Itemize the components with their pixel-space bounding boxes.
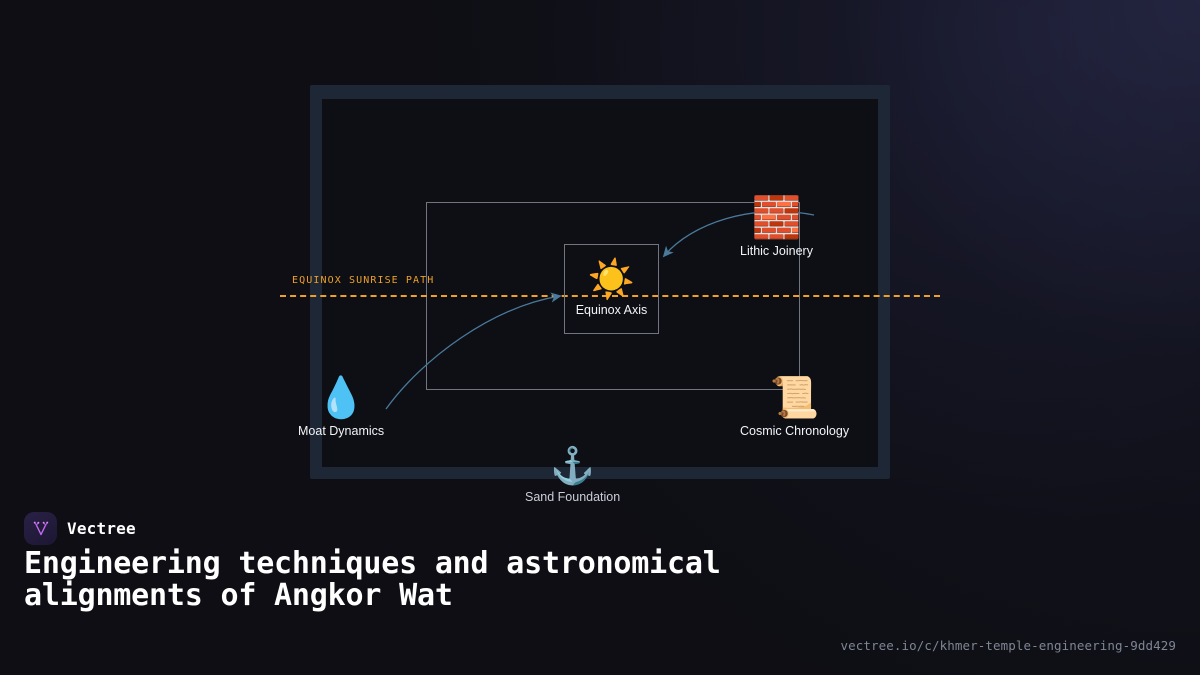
node-label-equinox-axis: Equinox Axis [576,303,648,317]
node-moat-dynamics[interactable]: 💧 Moat Dynamics [298,378,384,438]
anchor-icon: ⚓ [550,448,595,484]
node-cosmic-chronology[interactable]: 📜 Cosmic Chronology [740,378,849,438]
brick-wall-icon: 🧱 [752,198,802,238]
vectree-mark-icon [31,519,51,539]
brand[interactable]: Vectree [24,512,136,545]
node-label-sand-foundation: Sand Foundation [525,490,620,504]
node-equinox-axis[interactable]: ☀️ Equinox Axis [564,244,659,334]
node-label-lithic-joinery: Lithic Joinery [740,244,813,258]
sun-icon: ☀️ [588,261,635,299]
node-label-cosmic-chronology: Cosmic Chronology [740,424,849,438]
brand-name: Vectree [67,519,136,538]
page-title: Engineering techniques and astronomical … [24,548,784,613]
vectree-logo-icon [24,512,57,545]
equinox-sunrise-path-label: EQUINOX SUNRISE PATH [292,275,434,286]
page-url: vectree.io/c/khmer-temple-engineering-9d… [840,638,1176,653]
page-root: EQUINOX SUNRISE PATH ☀️ Equinox Axis [0,0,1200,675]
node-sand-foundation[interactable]: ⚓ Sand Foundation [525,448,620,504]
node-label-moat-dynamics: Moat Dynamics [298,424,384,438]
node-lithic-joinery[interactable]: 🧱 Lithic Joinery [740,198,813,258]
droplet-icon: 💧 [316,378,366,418]
scroll-icon: 📜 [770,378,820,418]
